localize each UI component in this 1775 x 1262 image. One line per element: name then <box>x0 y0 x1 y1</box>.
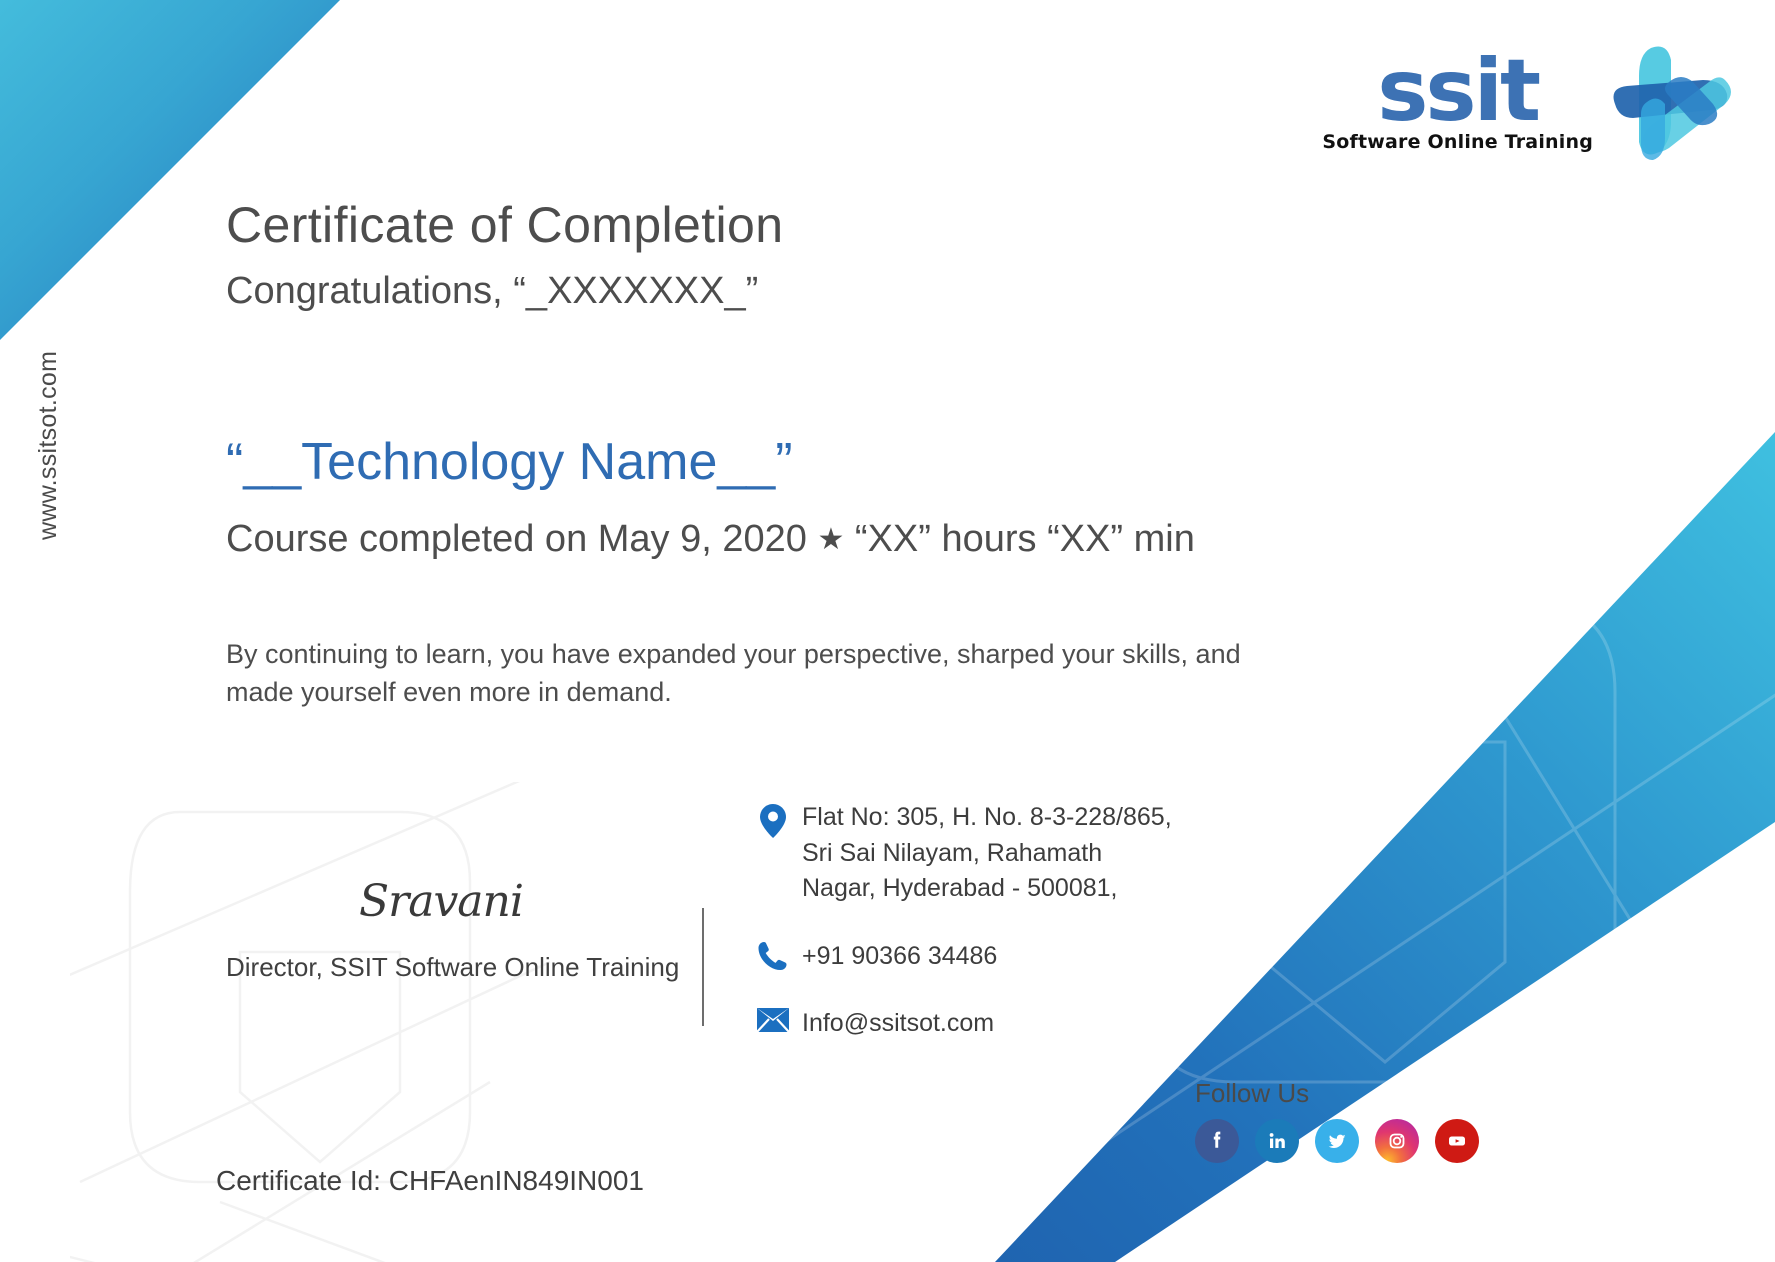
instagram-icon[interactable] <box>1375 1119 1419 1163</box>
contact-block: Flat No: 305, H. No. 8-3-228/865, Sri Sa… <box>752 800 1172 1072</box>
phone-icon <box>752 937 794 971</box>
star-icon: ★ <box>817 523 844 556</box>
course-completion-line: Course completed on May 9, 2020 ★ “XX” h… <box>226 518 1195 561</box>
signature-image: Sravani <box>226 880 656 924</box>
technology-name: “__Technology Name__” <box>226 432 793 492</box>
email-text: Info@ssitsot.com <box>802 1004 994 1042</box>
social-icon-row <box>1195 1119 1479 1163</box>
certificate-page: ssit Software Online Training www.ssitso… <box>0 0 1775 1262</box>
address-text: Flat No: 305, H. No. 8-3-228/865, Sri Sa… <box>802 800 1172 907</box>
star-logo-icon <box>1607 42 1735 164</box>
body-paragraph: By continuing to learn, you have expande… <box>226 635 1306 712</box>
logo-wordmark: ssit <box>1377 49 1538 133</box>
youtube-icon[interactable] <box>1435 1119 1479 1163</box>
follow-us-label: Follow Us <box>1195 1078 1479 1109</box>
website-url-vertical: www.ssitsot.com <box>34 351 63 540</box>
logo-text-group: ssit Software Online Training <box>1322 49 1593 153</box>
signature-block: Sravani Director, SSIT Software Online T… <box>226 880 656 983</box>
contact-row-phone: +91 90366 34486 <box>752 937 1172 975</box>
course-line-suffix: “XX” hours “XX” min <box>844 518 1195 560</box>
follow-us-block: Follow Us <box>1195 1078 1479 1163</box>
page-title: Certificate of Completion <box>226 196 783 254</box>
twitter-icon[interactable] <box>1315 1119 1359 1163</box>
contact-row-email: Info@ssitsot.com <box>752 1004 1172 1042</box>
vertical-divider <box>702 908 704 1026</box>
congratulations-line: Congratulations, “_XXXXXXX_” <box>226 270 758 313</box>
contact-row-address: Flat No: 305, H. No. 8-3-228/865, Sri Sa… <box>752 800 1172 907</box>
linkedin-icon[interactable] <box>1255 1119 1299 1163</box>
envelope-icon <box>752 1004 794 1032</box>
certificate-id: Certificate Id: CHFAenIN849IN001 <box>216 1165 644 1197</box>
brand-logo: ssit Software Online Training <box>1322 38 1735 164</box>
location-pin-icon <box>752 800 794 838</box>
phone-text: +91 90366 34486 <box>802 937 997 975</box>
course-line-prefix: Course completed on May 9, 2020 <box>226 518 817 560</box>
signature-caption: Director, SSIT Software Online Training <box>226 952 656 983</box>
facebook-icon[interactable] <box>1195 1119 1239 1163</box>
